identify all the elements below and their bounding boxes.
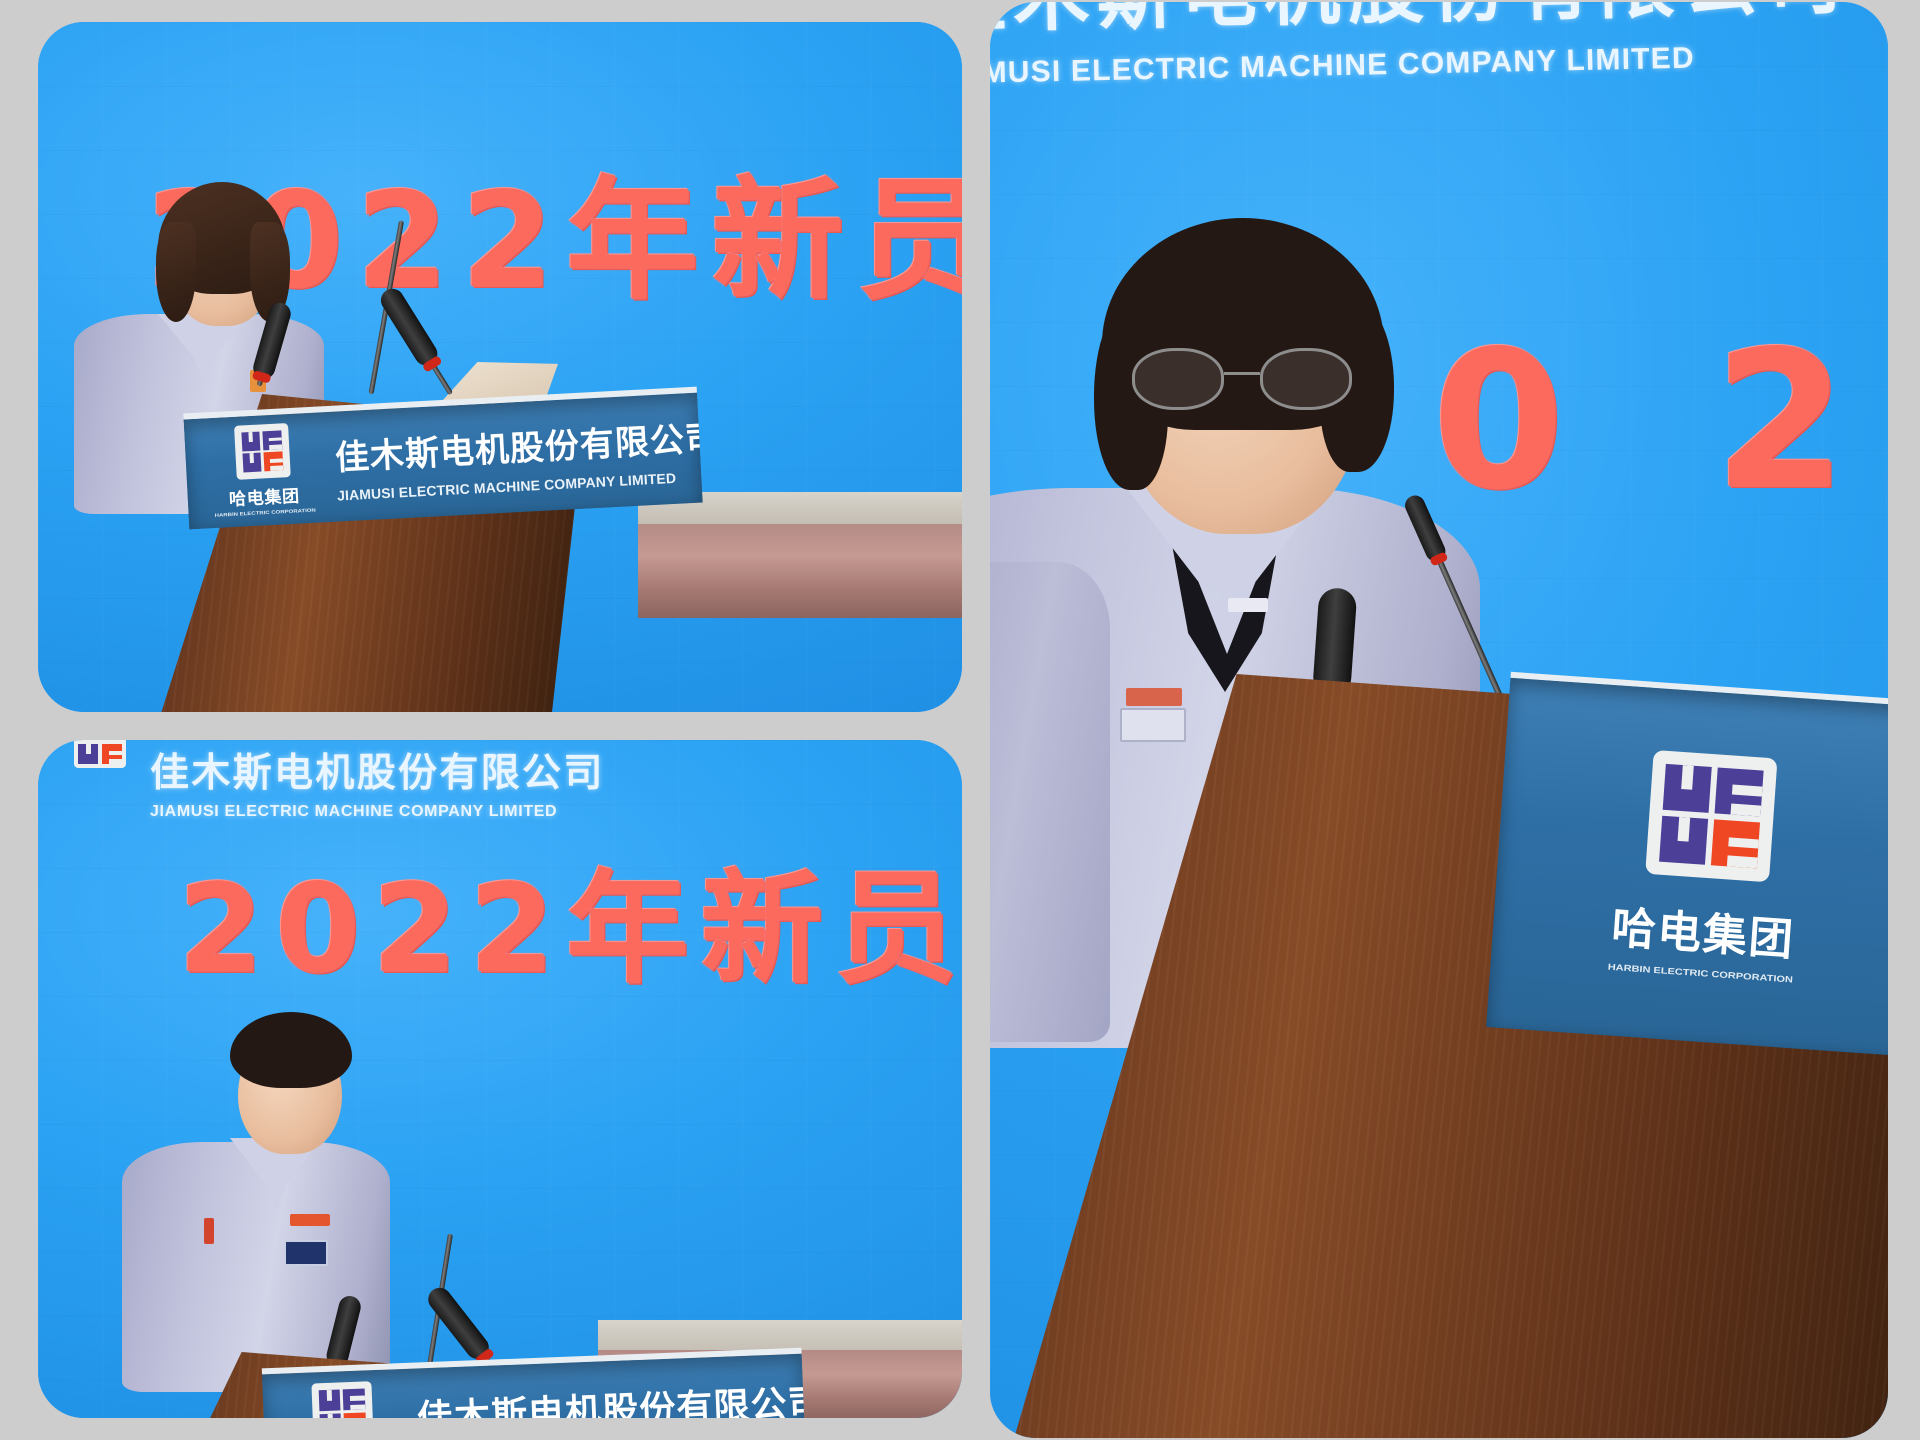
speaker-pocket-mark — [204, 1218, 214, 1244]
screen-company-header: 佳木斯电机股份有限公司 JIAMUSI ELECTRIC MACHINE COM… — [150, 742, 605, 821]
photo-collage: 2022年新员工 — [0, 0, 1920, 1440]
company-name-cn: 佳木斯电机股份有限公司 — [334, 410, 703, 479]
group-name-cn: 哈电集团 — [228, 482, 300, 511]
stage-banner-headline: 2022年新员工 — [178, 830, 962, 1007]
screen-company-cn: 佳木斯电机股份有限公司 — [150, 742, 605, 798]
background-table — [638, 522, 962, 618]
brand-logo-block: 哈电集团 HARBIN ELECTRIC CORPORATION — [1607, 748, 1808, 986]
eyeglass-lens-right — [1260, 348, 1352, 410]
speaker-eyeglasses — [1132, 348, 1352, 410]
harbin-electric-he-logo-icon — [234, 423, 291, 480]
eyeglass-bridge — [1224, 372, 1259, 375]
speaker-hair-side-left — [156, 222, 196, 322]
speaker-shirt-logo — [1228, 598, 1268, 612]
speaker-ribbon-badge — [290, 1214, 330, 1226]
speaker-id-badge — [284, 1240, 328, 1266]
photo-panel-bottom-left: 佳木斯电机股份有限公司 JIAMUSI ELECTRIC MACHINE COM… — [38, 740, 962, 1418]
photo-panel-top-left: 2022年新员工 — [38, 22, 962, 712]
screen-he-logo-icon — [74, 740, 126, 768]
company-name-cn: 佳木斯电机股份有限公司 — [416, 1374, 806, 1418]
podium-nameplate-right: 哈电集团 HARBIN ELECTRIC CORPORATION — [1486, 672, 1888, 1056]
screen-company-en: JIAMUSI ELECTRIC MACHINE COMPANY LIMITED — [150, 803, 605, 821]
brand-logo-block: 哈电集团 HARBIN ELECTRIC CORPORATION — [290, 1380, 395, 1418]
company-name-block: 佳木斯电机股份有限公司 JIAMUSI ELECTRIC MACHINE COM… — [416, 1374, 806, 1418]
brand-logo-block: 哈电集团 HARBIN ELECTRIC CORPORATION — [210, 422, 316, 519]
harbin-electric-he-logo-icon — [1645, 750, 1777, 882]
speaker-collar-pin — [1208, 586, 1222, 602]
eyeglass-lens-left — [1132, 348, 1224, 410]
group-name-cn: 哈电集团 — [1610, 892, 1797, 969]
company-name-block: 佳木斯电机股份有限公司 JIAMUSI ELECTRIC MACHINE COM… — [334, 410, 703, 503]
harbin-electric-he-logo-icon — [311, 1381, 373, 1418]
photo-panel-right: 佳木斯电机股份有限公司 JIAMUSI ELECTRIC MACHINE COM… — [990, 2, 1888, 1438]
